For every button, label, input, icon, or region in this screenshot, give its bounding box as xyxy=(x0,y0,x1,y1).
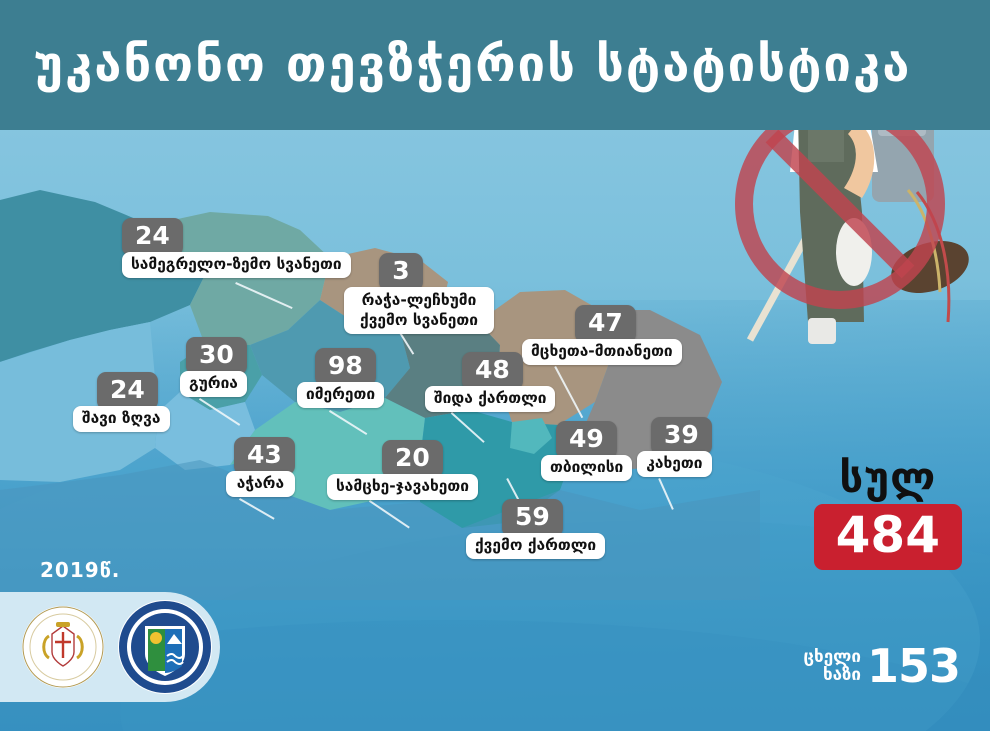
map-callout: 39კახეთი xyxy=(637,417,712,477)
map-callout: 43აჭარა xyxy=(226,437,295,497)
environmental-agency-emblem-icon xyxy=(118,600,212,694)
total-value-badge: 484 xyxy=(814,504,962,570)
callout-value: 49 xyxy=(556,421,617,459)
map-callout: 3რაჭა-ლეჩხუმი ქვემო სვანეთი xyxy=(344,253,494,334)
map-callout: 30გურია xyxy=(180,337,247,397)
hotline-label-line1: ცხელი xyxy=(803,648,861,666)
callout-label: სამცხე-ჯავახეთი xyxy=(327,474,478,500)
callout-label: ქვემო ქართლი xyxy=(466,533,605,559)
map-callout: 59ქვემო ქართლი xyxy=(466,499,605,559)
callout-label: შავი ზღვა xyxy=(73,406,170,432)
map-callout: 20სამცხე-ჯავახეთი xyxy=(327,440,478,500)
map-callout: 48შიდა ქართლი xyxy=(425,352,555,412)
callout-label: შიდა ქართლი xyxy=(425,386,555,412)
logo-panel xyxy=(0,592,220,702)
hotline-number: 153 xyxy=(867,643,960,689)
callout-value: 24 xyxy=(122,218,183,256)
map-callout: 24სამეგრელო-ზემო სვანეთი xyxy=(122,218,351,278)
callout-value: 3 xyxy=(379,253,423,291)
hotline-label: ცხელი ხაზი xyxy=(803,648,861,684)
total-block: სულ 484 xyxy=(814,455,962,570)
map-callout: 24შავი ზღვა xyxy=(73,372,170,432)
callout-label: თბილისი xyxy=(541,455,632,481)
page-title: უკანონო თევზჭერის სტატისტიკა xyxy=(34,30,911,100)
callout-label: გურია xyxy=(180,371,247,397)
callout-label: იმერეთი xyxy=(297,382,384,408)
infographic-canvas: უკანონო თევზჭერის სტატისტიკა xyxy=(0,0,990,731)
agency-emblem-svg xyxy=(118,600,212,694)
callout-label: რაჭა-ლეჩხუმი ქვემო სვანეთი xyxy=(344,287,494,334)
callout-value: 47 xyxy=(575,305,636,343)
total-label: სულ xyxy=(814,455,962,501)
callout-value: 43 xyxy=(234,437,295,475)
callout-label: სამეგრელო-ზემო სვანეთი xyxy=(122,252,351,278)
callout-value: 39 xyxy=(651,417,712,455)
map-callout: 49თბილისი xyxy=(541,421,632,481)
callout-value: 59 xyxy=(502,499,563,537)
callout-label: კახეთი xyxy=(637,451,712,477)
ministry-emblem-svg xyxy=(22,606,104,688)
fisherman-boot xyxy=(808,318,836,344)
callout-label: აჭარა xyxy=(226,471,295,497)
callout-value: 48 xyxy=(462,352,523,390)
callout-value: 20 xyxy=(382,440,443,478)
year-label: 2019წ. xyxy=(40,558,120,582)
map-callout: 98იმერეთი xyxy=(297,348,384,408)
hotline-label-line2: ხაზი xyxy=(803,666,861,684)
header-bar: უკანონო თევზჭერის სტატისტიკა xyxy=(0,0,990,130)
callout-value: 24 xyxy=(97,372,158,410)
ministry-emblem-icon xyxy=(22,606,104,688)
callout-value: 30 xyxy=(186,337,247,375)
hotline-block: ცხელი ხაზი 153 xyxy=(803,643,960,689)
callout-value: 98 xyxy=(315,348,376,386)
